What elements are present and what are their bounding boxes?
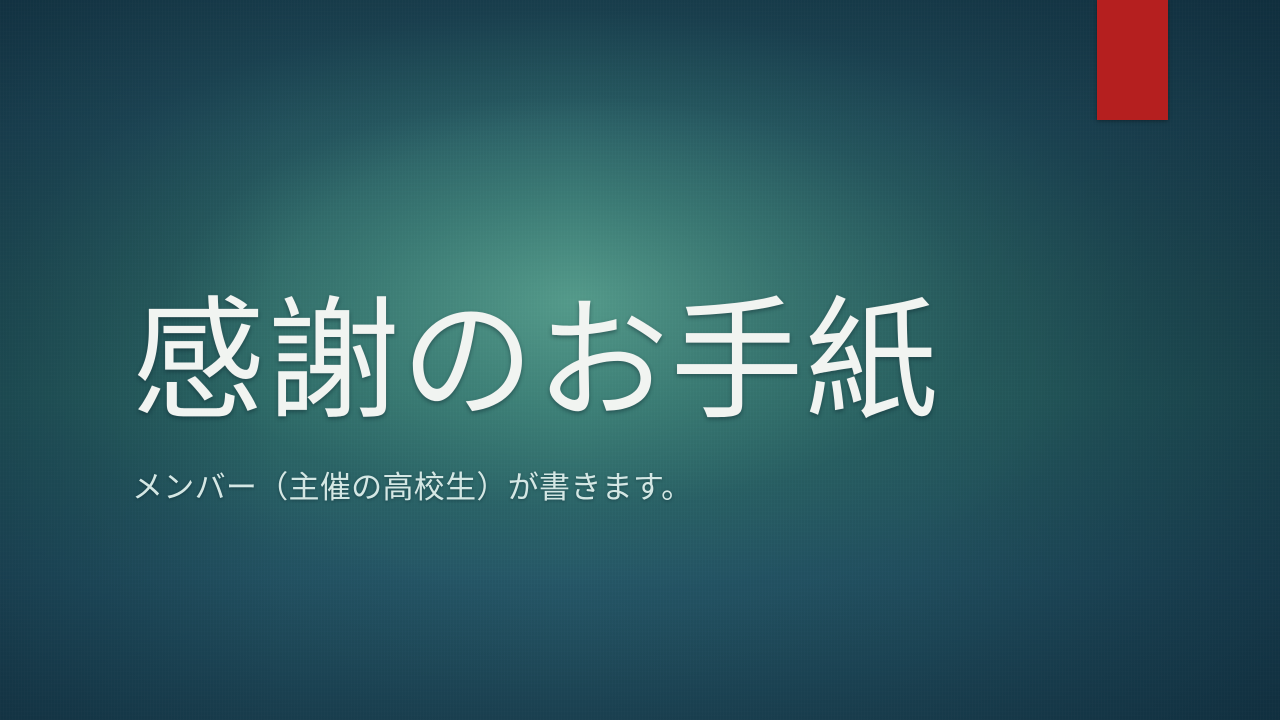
- slide-title: 感謝のお手紙: [132, 296, 1132, 429]
- title-text-block: 感謝のお手紙 メンバー（主催の高校生）が書きます。: [132, 296, 1132, 508]
- accent-bar: [1097, 0, 1168, 120]
- slide-subtitle: メンバー（主催の高校生）が書きます。: [132, 429, 1132, 508]
- presentation-slide: 感謝のお手紙 メンバー（主催の高校生）が書きます。: [0, 0, 1280, 720]
